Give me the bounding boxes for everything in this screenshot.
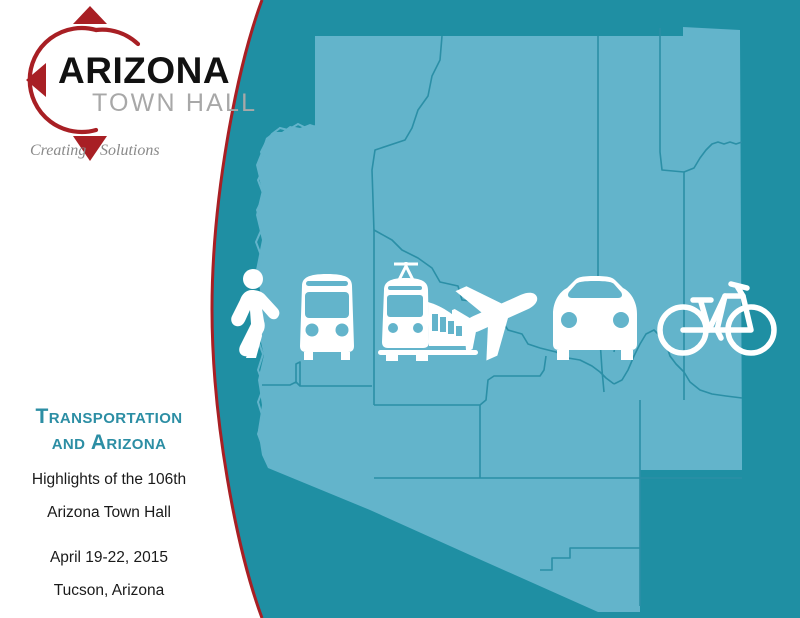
arizona-town-hall-logo: ARIZONA TOWN HALL Creating Solutions	[14, 6, 244, 166]
airplane-icon	[452, 262, 552, 362]
transportation-mode-icons	[212, 262, 800, 362]
pedestrian-icon	[222, 262, 282, 362]
slide-canvas: ARIZONA TOWN HALL Creating Solutions	[0, 0, 800, 618]
logo-tagline-right: Solutions	[100, 143, 160, 159]
bicycle-icon	[657, 262, 777, 362]
page-subtitle-line-1: Highlights of the 106th	[0, 472, 218, 488]
event-location: Tucson, Arizona	[0, 583, 218, 599]
logo-wordmark-primary: ARIZONA	[58, 52, 230, 89]
page-title-line-2: and Arizona	[0, 430, 218, 456]
car-icon	[545, 262, 645, 362]
page-subtitle: Highlights of the 106th Arizona Town Hal…	[0, 472, 218, 537]
compass-ring-top	[96, 30, 138, 44]
compass-arrow-north	[73, 6, 107, 24]
event-details: April 19-22, 2015 Tucson, Arizona	[0, 550, 218, 615]
logo-tagline-left: Creating	[30, 143, 86, 159]
page-title: Transportation and Arizona	[0, 404, 218, 455]
bus-icon	[288, 262, 366, 362]
page-title-line-1: Transportation	[0, 404, 218, 430]
page-subtitle-line-2: Arizona Town Hall	[0, 505, 218, 521]
event-date: April 19-22, 2015	[0, 550, 218, 566]
logo-wordmark-secondary: TOWN HALL	[92, 91, 257, 116]
